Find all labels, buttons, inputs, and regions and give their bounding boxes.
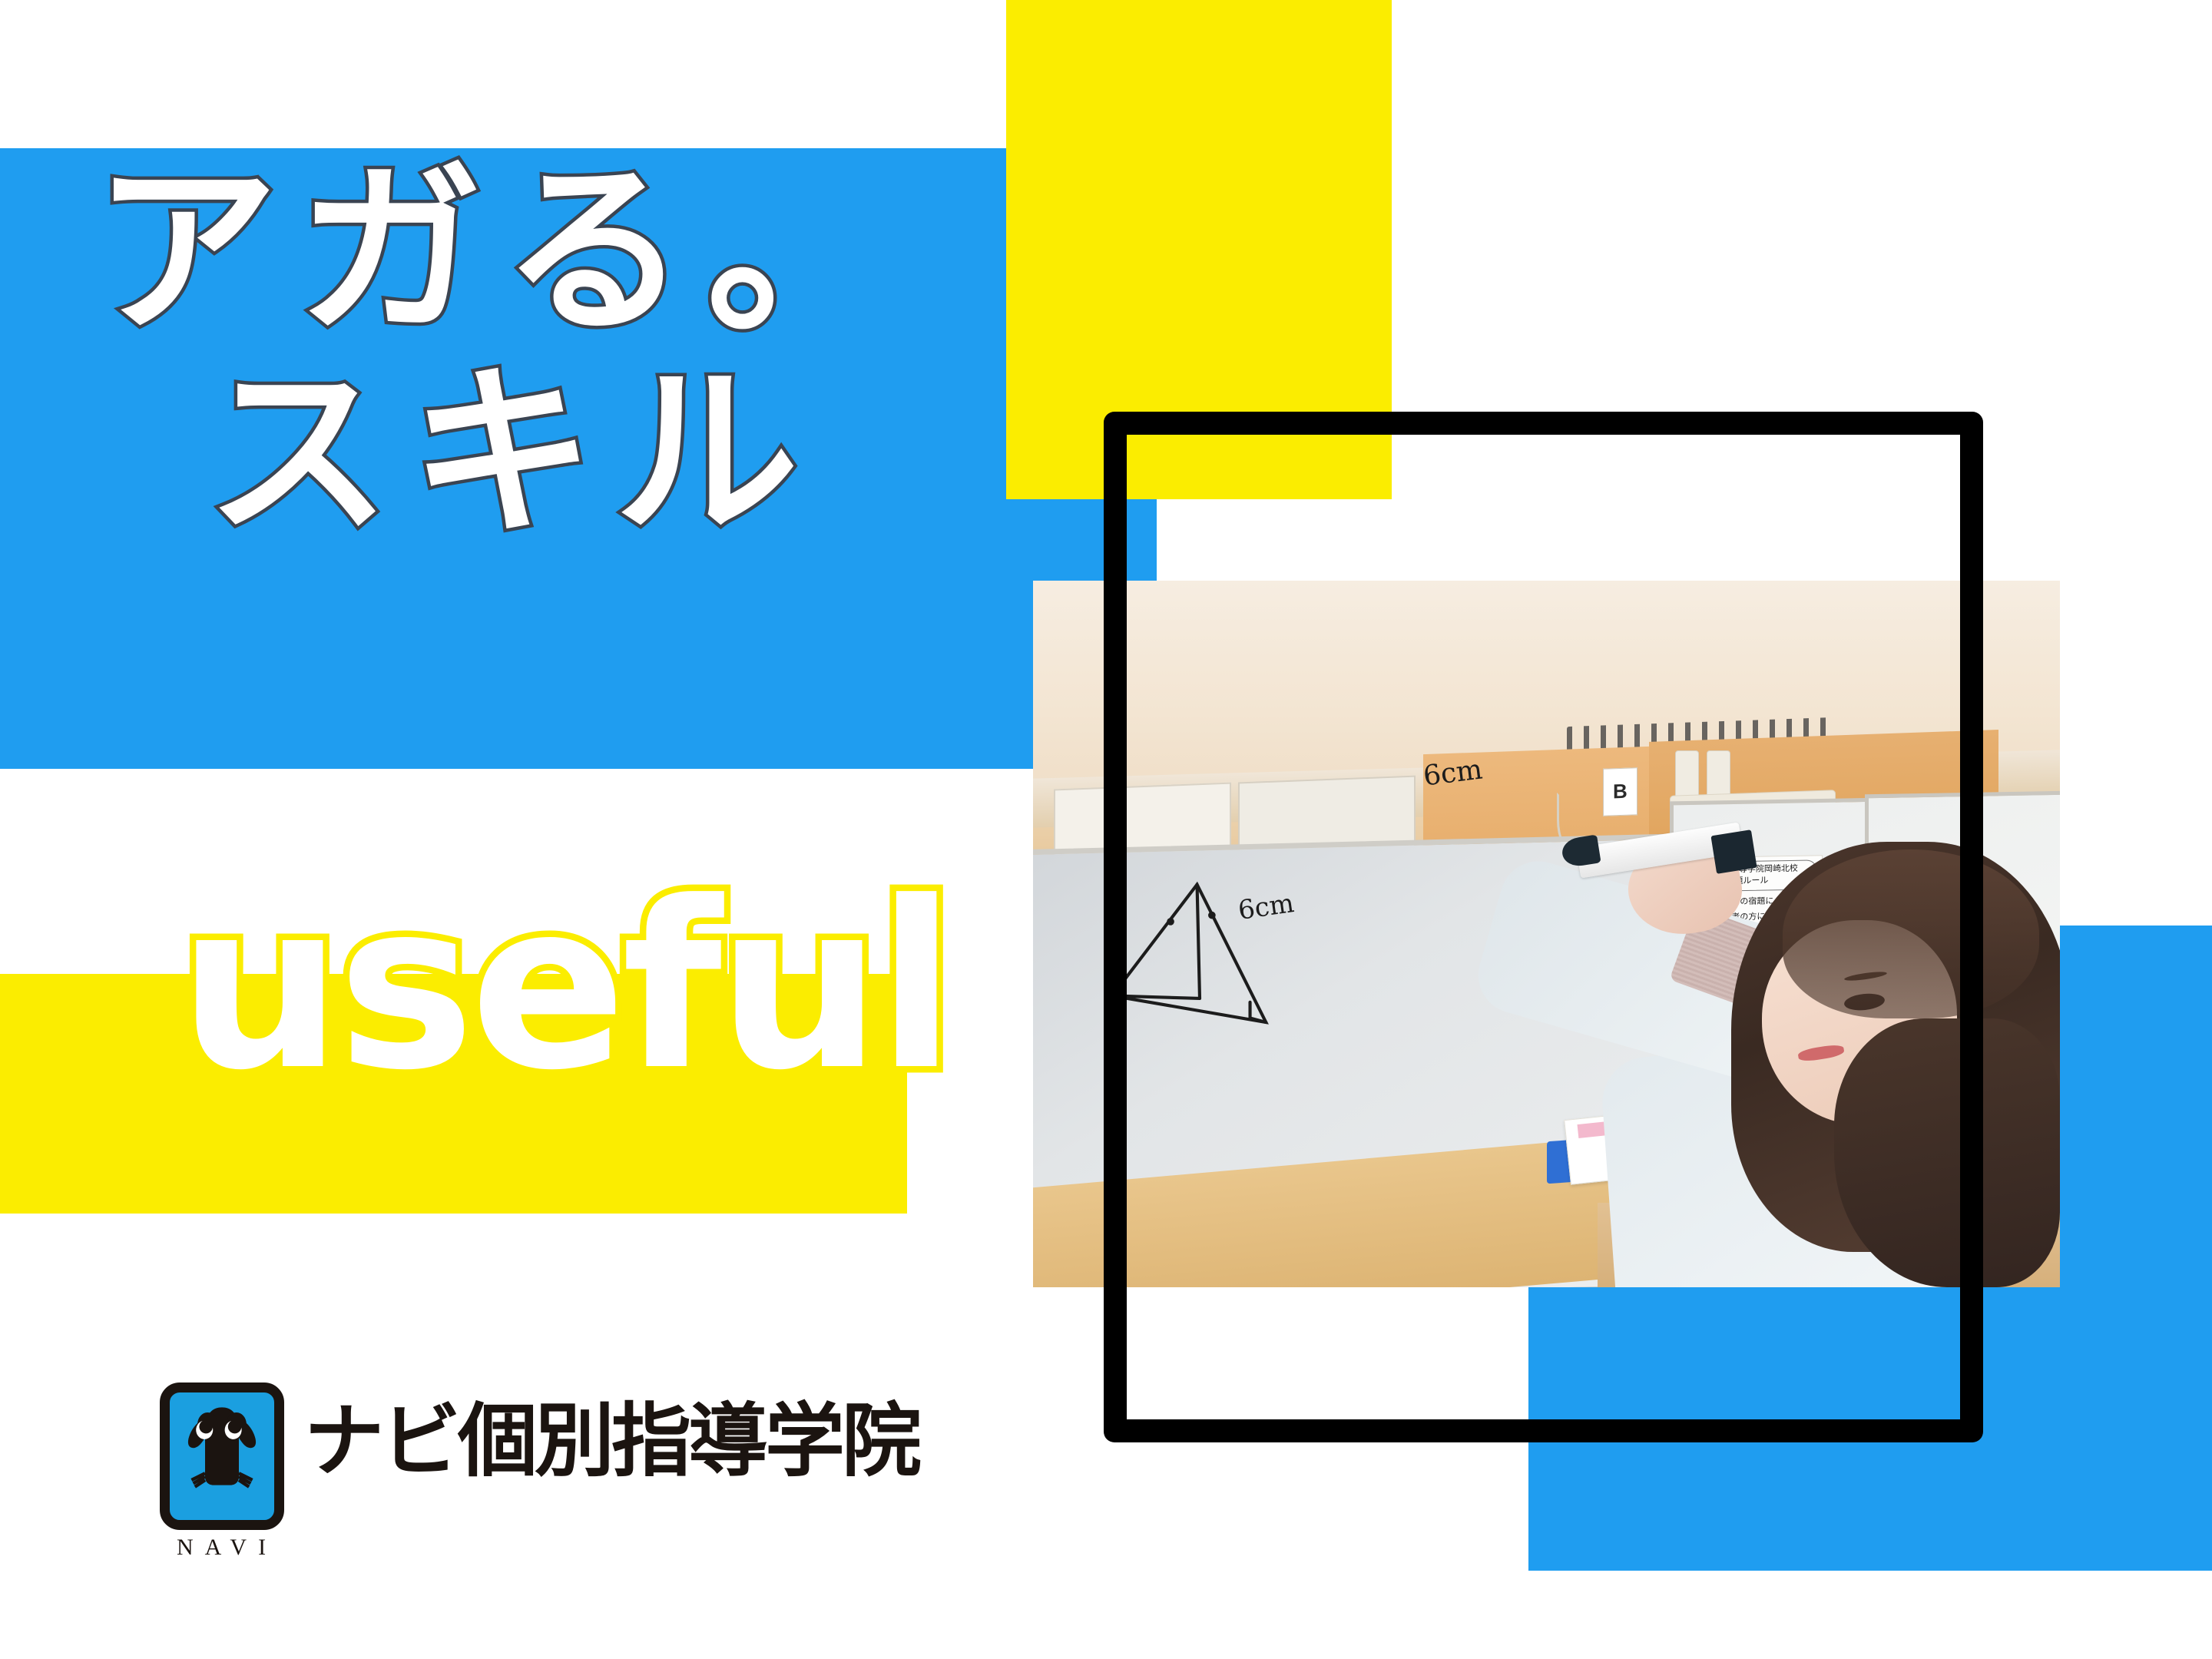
brand-logo: NAVI ナビ個別指導学院 [160,1382,919,1561]
yellow-block-top-center [1006,0,1392,499]
navi-frog-mascot-icon [160,1382,284,1530]
marker-cap [1711,829,1758,873]
tagline-useful: useful [178,872,952,1102]
classroom-photo: B 中学生の皆さんへ ナビ個別の成績アップ戦略は 「3回くり返し」! 》》》 D… [1033,581,2060,1287]
logo-navi-caption: NAVI [177,1535,277,1561]
student-hair-back [1834,1018,2060,1287]
headline-group: アガる。 スキル [0,157,1014,548]
logo-wordmark: ナビ個別指導学院 [304,1401,919,1481]
logo-mark-wrap: NAVI [160,1382,284,1561]
student-bangs [1783,849,2039,1019]
poster-canvas: B 中学生の皆さんへ ナビ個別の成績アップ戦略は 「3回くり返し」! 》》》 D… [0,0,2212,1659]
headline-line-2: スキル [206,359,1014,548]
pyramid-diagram [1043,863,1351,1075]
headline-line-1: アガる。 [94,157,1014,346]
